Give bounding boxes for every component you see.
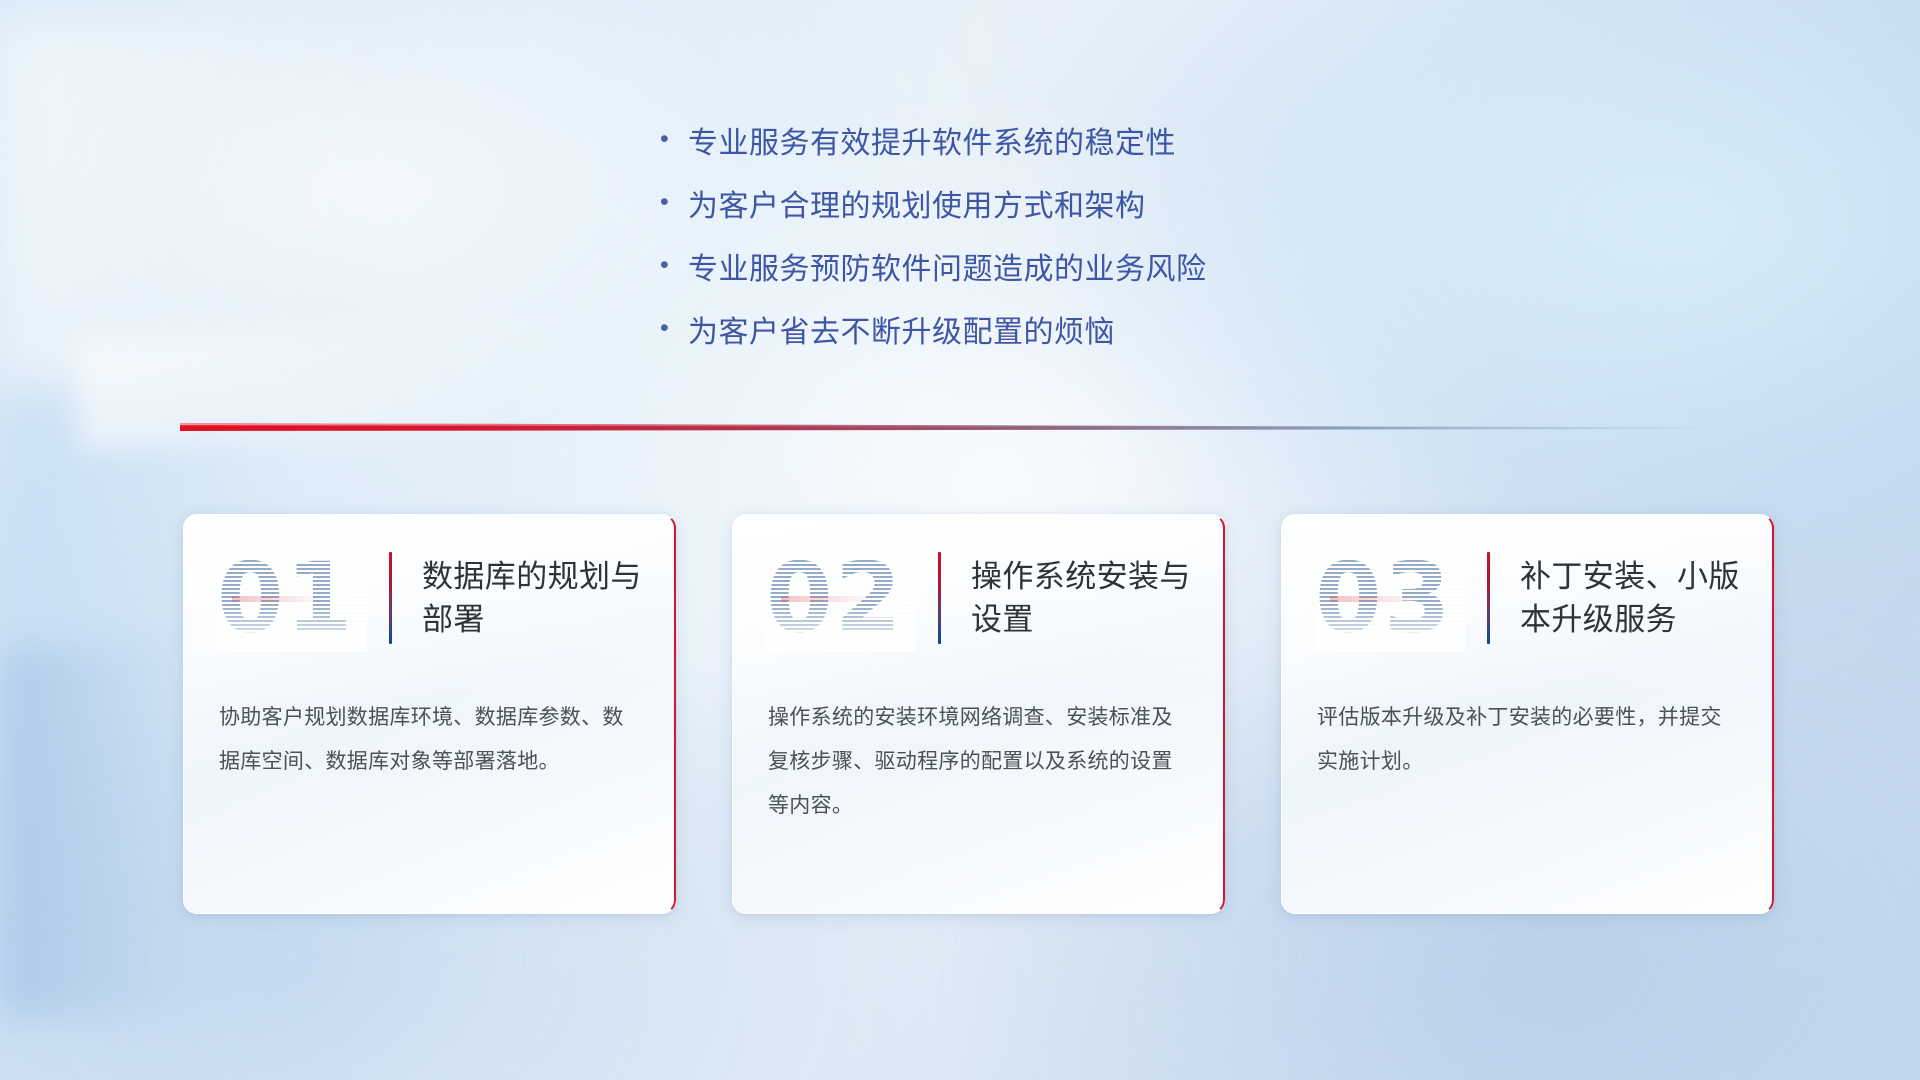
bullet-dot-icon: • — [660, 316, 688, 341]
card-title: 数据库的规划与部署 — [422, 555, 672, 641]
card-title: 操作系统安装与设置 — [971, 555, 1221, 641]
bullet-text: 专业服务有效提升软件系统的稳定性 — [688, 118, 1176, 162]
card-number-text: 01 — [217, 544, 367, 652]
card-description: 评估版本升级及补丁安装的必要性，并提交实施计划。 — [1281, 664, 1774, 784]
bullet-dot-icon: • — [660, 253, 688, 278]
card-number-text: 03 — [1315, 544, 1465, 652]
service-card-02[interactable]: 02 操作系统安装与设置 操作系统的安装环境网络调查、安装标准及复核步骤、驱动程… — [732, 514, 1225, 914]
bullet-text: 为客户合理的规划使用方式和架构 — [688, 181, 1146, 225]
card-title: 补丁安装、小版本升级服务 — [1520, 555, 1770, 641]
list-item: • 专业服务有效提升软件系统的稳定性 — [660, 108, 1207, 171]
card-header: 02 操作系统安装与设置 — [732, 514, 1225, 664]
card-accent-bar — [1487, 552, 1490, 644]
card-number-text: 02 — [766, 544, 916, 652]
bullet-text: 专业服务预防软件问题造成的业务风险 — [688, 244, 1207, 288]
card-accent-bar — [389, 552, 392, 644]
service-card-01[interactable]: 01 数据库的规划与部署 协助客户规划数据库环境、数据库参数、数据库空间、数据库… — [183, 514, 676, 914]
service-card-03[interactable]: 03 补丁安装、小版本升级服务 评估版本升级及补丁安装的必要性，并提交实施计划。 — [1281, 514, 1774, 914]
list-item: • 为客户省去不断升级配置的烦恼 — [660, 297, 1207, 360]
card-number-watermark: 02 — [766, 544, 916, 652]
card-header: 03 补丁安装、小版本升级服务 — [1281, 514, 1774, 664]
card-description: 协助客户规划数据库环境、数据库参数、数据库空间、数据库对象等部署落地。 — [183, 664, 676, 784]
list-item: • 为客户合理的规划使用方式和架构 — [660, 171, 1207, 234]
section-divider — [180, 418, 1725, 434]
card-number-watermark: 03 — [1315, 544, 1465, 652]
bullet-text: 为客户省去不断升级配置的烦恼 — [688, 307, 1115, 351]
card-accent-bar — [938, 552, 941, 644]
card-header: 01 数据库的规划与部署 — [183, 514, 676, 664]
bullet-dot-icon: • — [660, 190, 688, 215]
card-number-watermark: 01 — [217, 544, 367, 652]
card-description: 操作系统的安装环境网络调查、安装标准及复核步骤、驱动程序的配置以及系统的设置等内… — [732, 664, 1225, 828]
list-item: • 专业服务预防软件问题造成的业务风险 — [660, 234, 1207, 297]
bullet-dot-icon: • — [660, 127, 688, 152]
benefits-bullet-list: • 专业服务有效提升软件系统的稳定性 • 为客户合理的规划使用方式和架构 • 专… — [660, 108, 1207, 360]
service-card-list: 01 数据库的规划与部署 协助客户规划数据库环境、数据库参数、数据库空间、数据库… — [183, 514, 1774, 914]
